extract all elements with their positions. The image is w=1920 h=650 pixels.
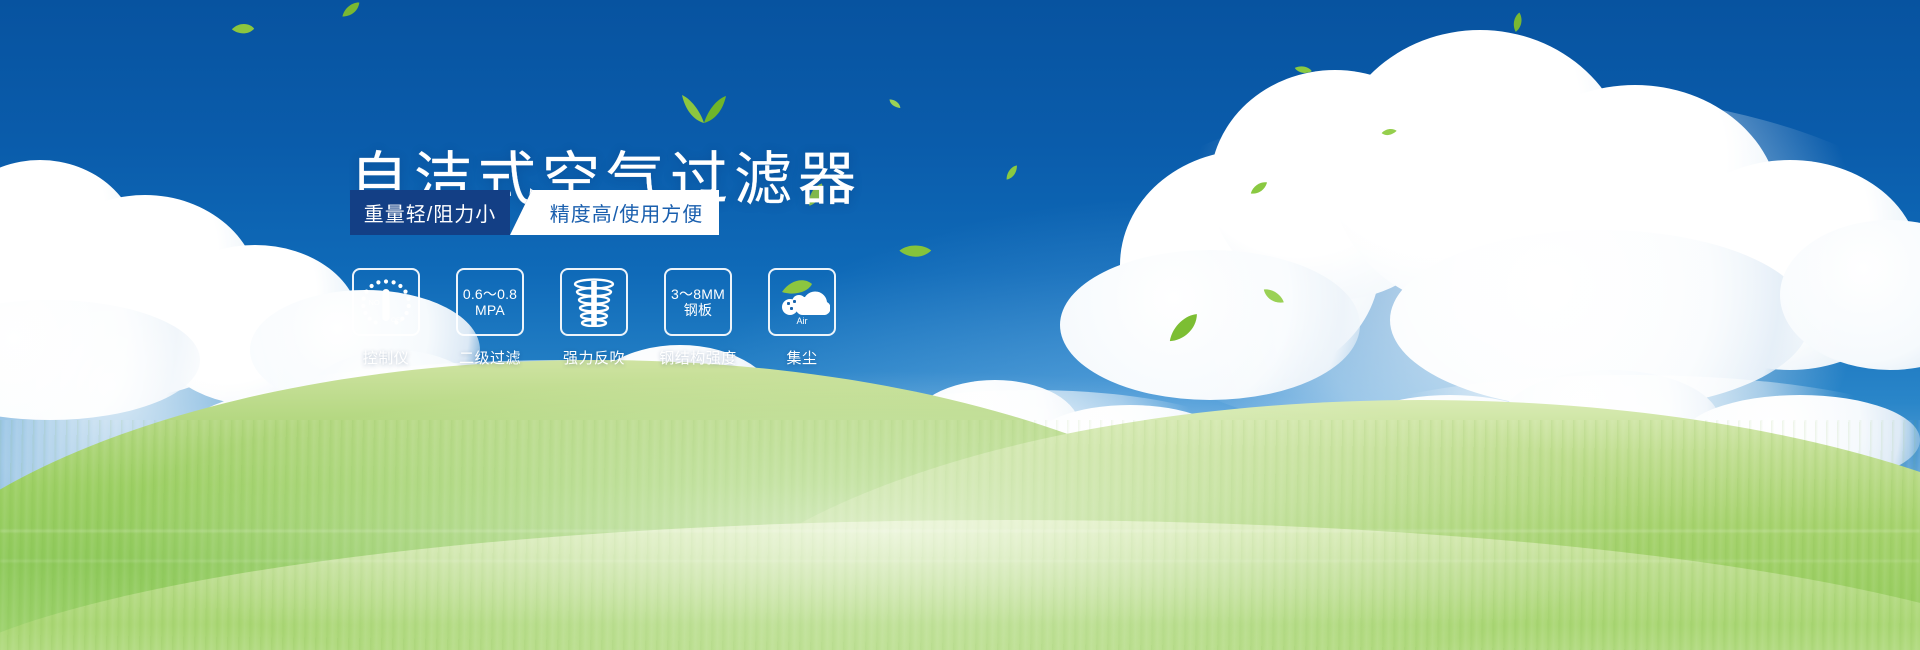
feature-item-blowback[interactable]: 强力反吹	[560, 268, 628, 368]
pressure-text-icon: 0.6～0.8 MPA	[456, 268, 524, 336]
gauge-dial-icon: NO OFF	[352, 268, 420, 336]
steel-plate-text: 钢板	[671, 302, 725, 318]
badge-lightweight[interactable]: 重量轻/阻力小	[350, 190, 510, 235]
steel-thickness-text: 3～8MM	[671, 286, 725, 302]
svg-text:OFF: OFF	[391, 317, 404, 324]
feature-label: 二级过滤	[459, 347, 521, 368]
feature-label: 集尘	[786, 347, 817, 368]
feature-label: 强力反吹	[563, 347, 625, 368]
feature-item-steel[interactable]: 3～8MM 钢板 钢结构强度	[664, 268, 732, 368]
feature-label: 钢结构强度	[659, 347, 737, 368]
feature-item-dust[interactable]: Air 集尘	[768, 268, 836, 368]
coil-spiral-icon	[560, 268, 628, 336]
svg-text:NO: NO	[369, 298, 380, 307]
badge-group: 重量轻/阻力小 精度高/使用方便	[350, 190, 719, 235]
banner-content: 自洁式空气过滤器 重量轻/阻力小 精度高/使用方便	[0, 0, 1920, 650]
badge-precision[interactable]: 精度高/使用方便	[510, 190, 719, 235]
cloud-air-icon: Air	[768, 268, 836, 336]
feature-icon-list: NO OFF 控制仪 0.6～0.8 MPA 二级过滤	[352, 268, 836, 368]
title-leaf-icon	[681, 93, 727, 123]
feature-item-controller[interactable]: NO OFF 控制仪	[352, 268, 420, 368]
feature-item-filtration[interactable]: 0.6～0.8 MPA 二级过滤	[456, 268, 524, 368]
pressure-range-text: 0.6～0.8	[463, 286, 517, 302]
feature-label: 控制仪	[363, 347, 410, 368]
svg-text:Air: Air	[797, 316, 808, 326]
hero-banner: 自洁式空气过滤器 重量轻/阻力小 精度高/使用方便	[0, 0, 1920, 650]
pressure-unit-text: MPA	[463, 302, 517, 318]
steel-plate-text-icon: 3～8MM 钢板	[664, 268, 732, 336]
